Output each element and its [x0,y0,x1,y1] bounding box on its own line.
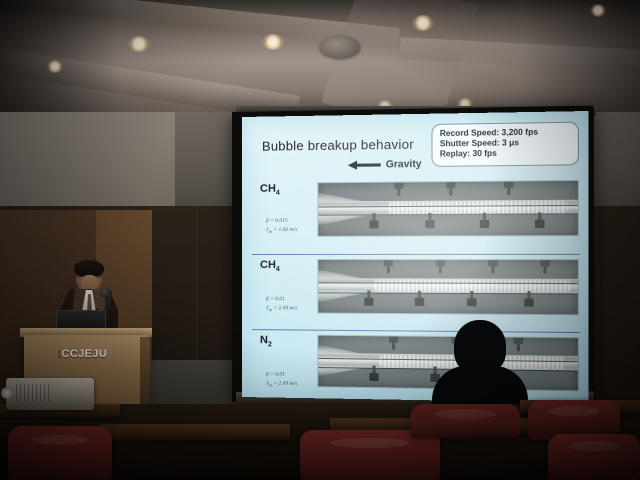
row-divider [252,254,580,255]
ceiling-shadow [520,0,640,118]
gas-label: N2 [260,334,272,348]
podium-side [140,337,150,411]
table [100,424,290,440]
ceiling-downlight-icon [590,4,606,17]
ceiling-downlight-icon [47,60,63,73]
ceiling [0,0,640,118]
ceiling-downlight-icon [262,34,284,50]
row-divider [252,329,580,333]
slide-row: CH4 β = 0.01 Jin = 2.49 m/s [260,259,579,328]
gas-label: CH4 [260,259,280,273]
projector-lens-icon [1,387,13,399]
wall-upper-left [0,112,175,212]
projector-vents [16,384,50,402]
projector-device [6,378,94,410]
chair [548,434,640,480]
slide-row: N2 β = 0.01 Jin = 2.49 m/s [260,334,579,402]
highspeed-video-frame [317,259,579,315]
ceiling-shadow [0,0,120,118]
microphone-icon [100,288,112,298]
wall-seam [596,206,598,406]
highspeed-video-frame [317,180,579,237]
gravity-label: Gravity [386,159,422,171]
arrow-left-icon [347,159,382,171]
capture-settings-box: Record Speed: 3,200 fps Shutter Speed: 3… [431,122,578,167]
row-parameters: β = 0.01 Jin = 2.49 m/s [266,370,297,388]
gravity-annotation: Gravity [347,159,422,171]
presenter-face [81,275,98,291]
slide-row: CH4 β = 0.015 Jin = 1.66 m/s [260,180,579,249]
slide-title: Bubble breakup behavior [262,136,414,153]
row-parameters: β = 0.015 Jin = 1.66 m/s [266,217,297,235]
ceiling-vent-icon [320,36,360,58]
conference-room-photo: Bubble breakup behavior Gravity Record S… [0,0,640,480]
gas-label: CH4 [260,183,280,197]
chair [410,404,520,438]
venue-logo: ICCJEJU [58,348,107,360]
row-parameters: β = 0.01 Jin = 2.49 m/s [266,295,297,313]
replay-rate-text: Replay: 30 fps [440,148,572,160]
ceiling-downlight-icon [128,36,150,52]
ceiling-downlight-icon [412,15,434,31]
presentation-slide: Bubble breakup behavior Gravity Record S… [242,111,589,403]
chair [8,426,112,480]
